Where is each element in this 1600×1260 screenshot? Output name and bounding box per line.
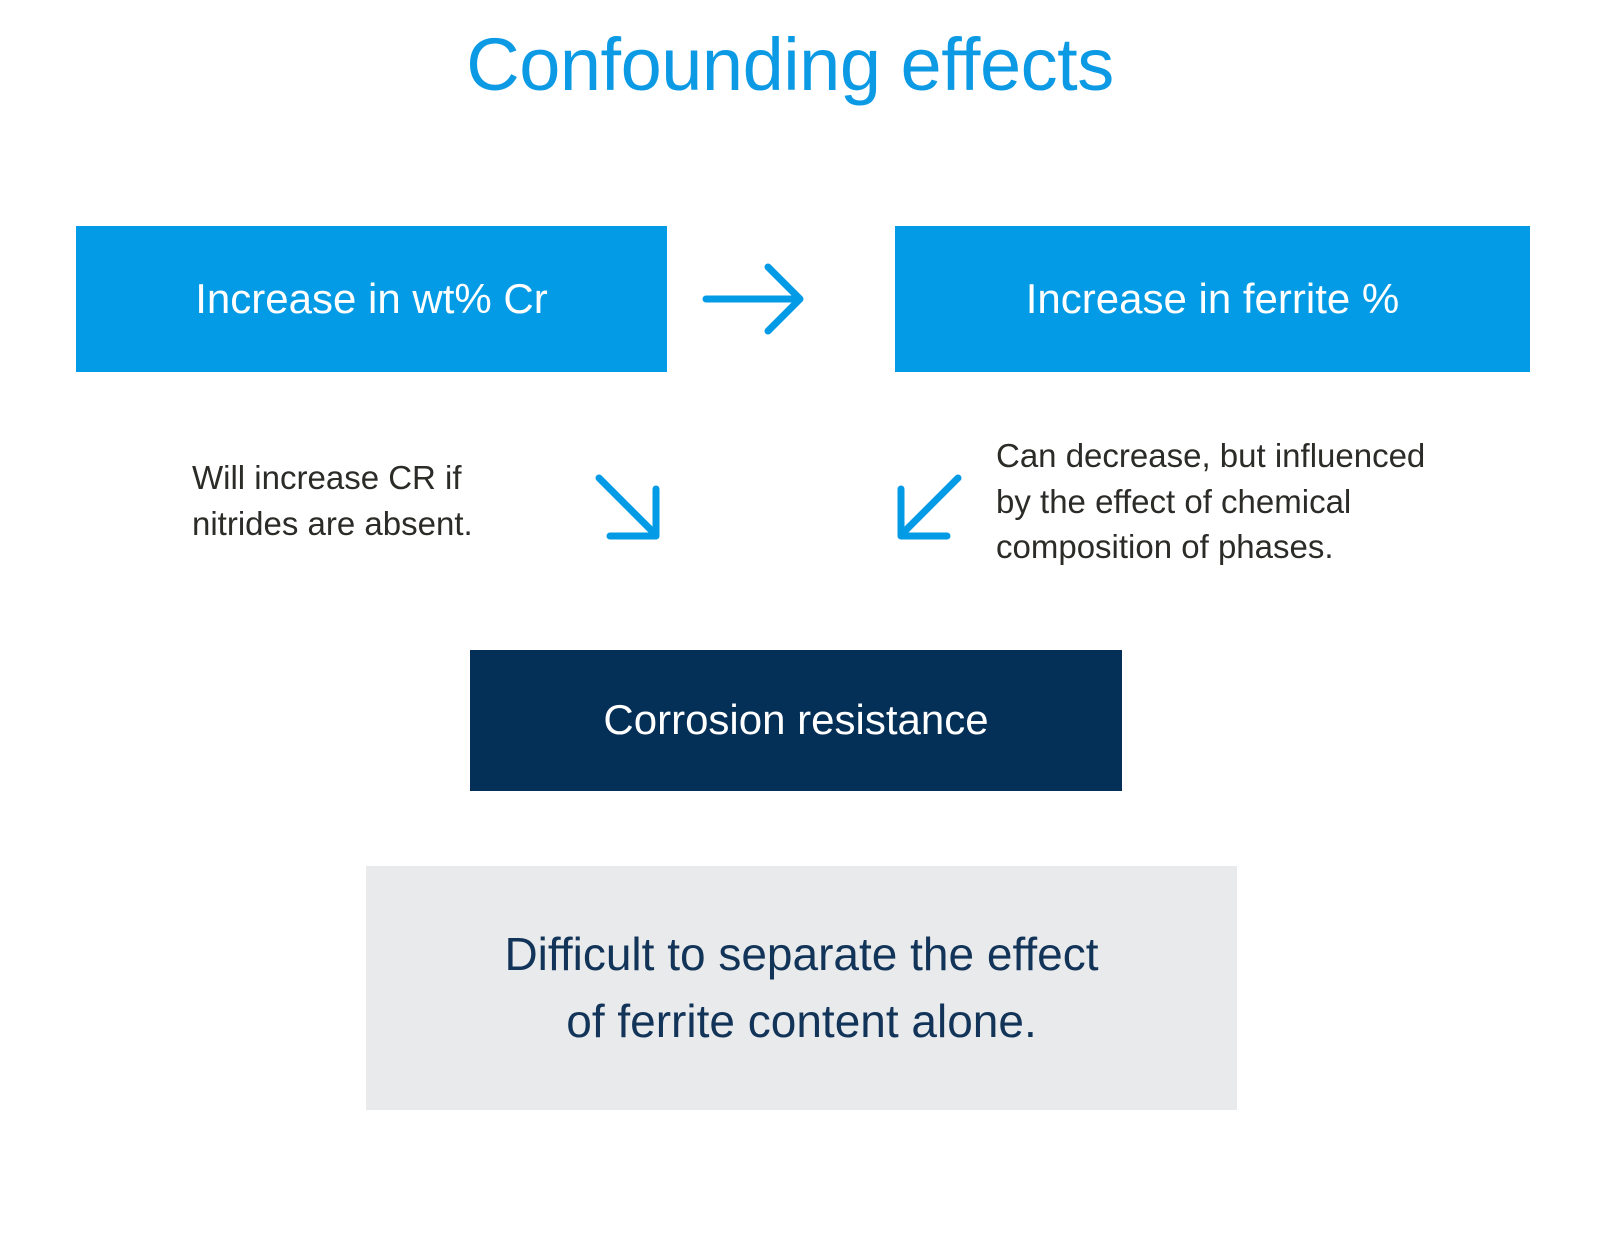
arrow-down-left-icon (865, 465, 965, 545)
box-increase-wt-cr-label: Increase in wt% Cr (195, 275, 547, 323)
box-increase-wt-cr: Increase in wt% Cr (76, 226, 667, 372)
box-conclusion-line-2: of ferrite content alone. (566, 988, 1037, 1055)
note-left-text: Will increase CR if nitrides are absent. (192, 455, 592, 546)
slide-canvas: Confounding effects Increase in wt% Cr I… (0, 0, 1600, 1260)
box-corrosion-resistance: Corrosion resistance (470, 650, 1122, 791)
arrow-right-icon (700, 258, 810, 340)
box-corrosion-resistance-label: Corrosion resistance (603, 696, 988, 744)
box-conclusion: Difficult to separate the effect of ferr… (366, 866, 1237, 1110)
note-right-text: Can decrease, but influenced by the effe… (996, 433, 1536, 570)
box-increase-ferrite: Increase in ferrite % (895, 226, 1530, 372)
page-title: Confounding effects (0, 28, 1580, 102)
box-conclusion-line-1: Difficult to separate the effect (504, 921, 1098, 988)
arrow-down-right-icon (590, 465, 670, 545)
box-increase-ferrite-label: Increase in ferrite % (1026, 275, 1400, 323)
